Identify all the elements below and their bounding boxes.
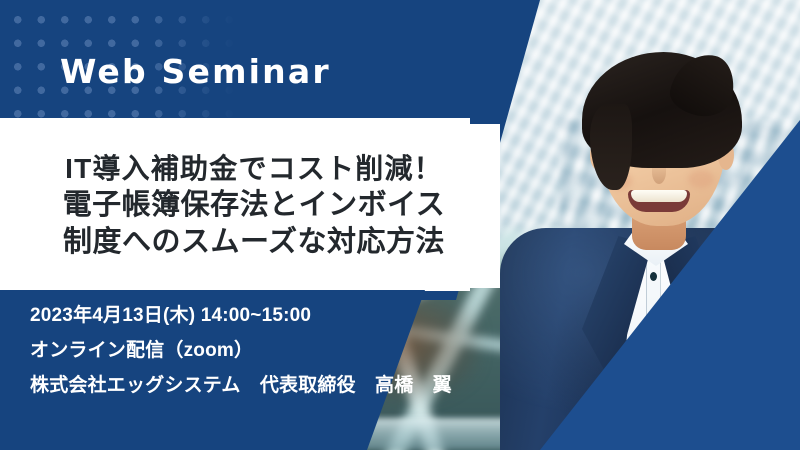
title-line-2: 電子帳簿保存法とインボイス	[63, 187, 446, 224]
title-card: IT導入補助金でコスト削減！ 電子帳簿保存法とインボイス 制度へのスムーズな対応…	[8, 124, 500, 288]
event-datetime: 2023年4月13日(木) 14:00~15:00	[30, 306, 450, 325]
title-line-1: IT導入補助金でコスト削減！	[65, 151, 443, 187]
mouth	[628, 190, 690, 212]
webinar-poster: Web Seminar IT導入補助金でコスト削減！ 電子帳簿保存法とインボイス…	[0, 0, 800, 450]
event-speaker: 株式会社エッグシステム 代表取締役 高橋 翼	[30, 376, 450, 395]
cheek-right	[688, 170, 714, 188]
event-details: 2023年4月13日(木) 14:00~15:00 オンライン配信（zoom） …	[30, 306, 450, 395]
title-line-3: 制度へのスムーズな対応方法	[63, 224, 445, 261]
teeth	[631, 190, 687, 202]
shirt-button	[650, 272, 657, 281]
seminar-label: Web Seminar	[60, 52, 331, 91]
event-delivery: オンライン配信（zoom）	[30, 341, 450, 360]
